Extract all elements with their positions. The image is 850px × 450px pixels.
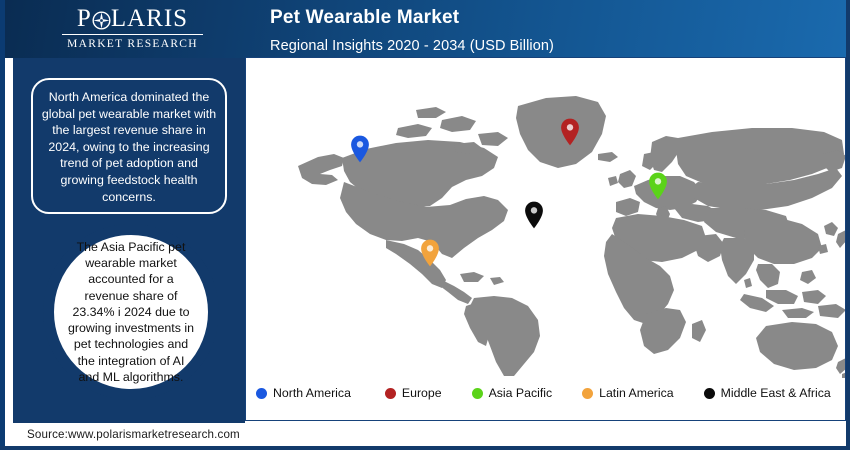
pin-north-america[interactable]: [350, 135, 370, 163]
pin-europe[interactable]: [560, 118, 580, 146]
pin-latin-america[interactable]: [420, 239, 440, 267]
world-map: [246, 58, 846, 378]
legend-label: Europe: [402, 386, 442, 400]
callout-north-america: North America dominated the global pet w…: [31, 78, 227, 214]
compass-star-icon: [92, 10, 111, 29]
logo-divider: [62, 34, 203, 35]
legend-label: Asia Pacific: [489, 386, 553, 400]
logo-tagline: MARKET RESEARCH: [60, 38, 205, 50]
world-map-panel: North AmericaEuropeAsia PacificLatin Ame…: [245, 57, 846, 421]
logo-text-part1: P: [77, 6, 92, 32]
legend-item[interactable]: Europe: [385, 386, 442, 400]
pin-asia-pacific[interactable]: [648, 172, 668, 200]
page-subtitle: Regional Insights 2020 - 2034 (USD Billi…: [270, 38, 554, 54]
legend-color-dot: [256, 388, 267, 399]
frame-left-accent: [0, 0, 5, 446]
pin-middle-east-africa[interactable]: [524, 201, 544, 229]
legend-label: Latin America: [599, 386, 674, 400]
callout-asia-pacific-text: The Asia Pacific pet wearable market acc…: [66, 239, 196, 386]
legend-label: North America: [273, 386, 351, 400]
legend-color-dot: [582, 388, 593, 399]
frame-right-border: [846, 0, 850, 450]
title-block: Pet Wearable Market Regional Insights 20…: [270, 7, 554, 54]
legend-item[interactable]: Middle East & Africa: [704, 386, 831, 400]
legend-item[interactable]: Asia Pacific: [472, 386, 553, 400]
legend-color-dot: [472, 388, 483, 399]
frame-bottom-border: [0, 446, 850, 450]
callout-asia-pacific: The Asia Pacific pet wearable market acc…: [43, 224, 219, 400]
polaris-logo: P LARIS MARKET RESEARCH: [60, 6, 205, 50]
legend-color-dot: [704, 388, 715, 399]
source-footer: Source:www.polarismarketresearch.com: [27, 428, 240, 441]
infographic-root: P LARIS MARKET RESEARCH Pet Wearable Mar…: [0, 0, 850, 450]
legend-color-dot: [385, 388, 396, 399]
legend-label: Middle East & Africa: [721, 386, 831, 400]
insights-sidebar: North America dominated the global pet w…: [13, 58, 245, 423]
legend-item[interactable]: Latin America: [582, 386, 674, 400]
map-legend: North AmericaEuropeAsia PacificLatin Ame…: [256, 386, 841, 400]
logo-text-part2: LARIS: [111, 6, 188, 32]
legend-item[interactable]: North America: [256, 386, 351, 400]
header-bar: P LARIS MARKET RESEARCH Pet Wearable Mar…: [5, 0, 850, 58]
logo-wordmark: P LARIS: [60, 6, 205, 32]
page-title: Pet Wearable Market: [270, 7, 554, 29]
